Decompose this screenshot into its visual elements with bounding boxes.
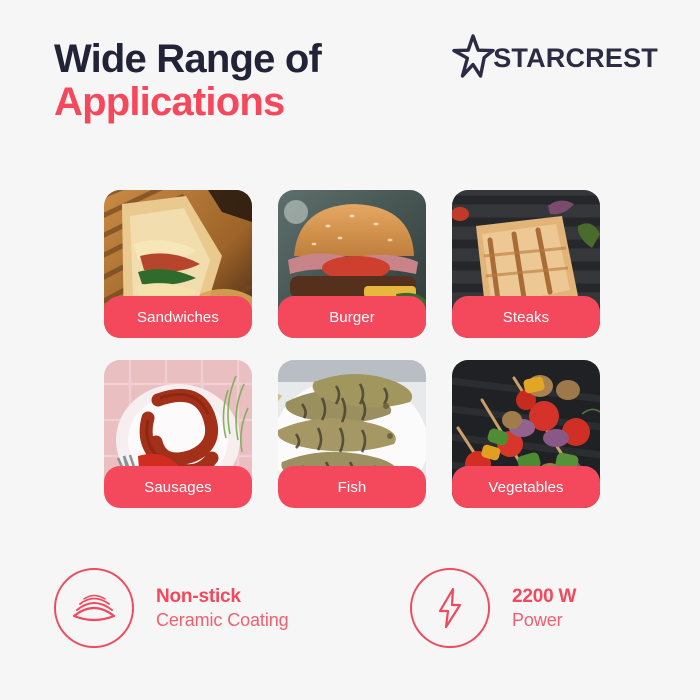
application-card-steaks[interactable]: Steaks xyxy=(452,190,600,338)
application-card-burger[interactable]: Burger xyxy=(278,190,426,338)
card-label: Fish xyxy=(278,466,426,508)
feature-subtitle: Ceramic Coating xyxy=(156,609,289,632)
card-label: Vegetables xyxy=(452,466,600,508)
feature-subtitle: Power xyxy=(512,609,576,632)
brand-name: STARCREST xyxy=(493,41,658,72)
star-outline-icon xyxy=(450,33,496,79)
headline-line-1: Wide Range of xyxy=(54,38,321,81)
card-label-text: Sandwiches xyxy=(137,309,219,326)
application-card-sandwiches[interactable]: Sandwiches xyxy=(104,190,252,338)
feature-text: 2200 W Power xyxy=(512,585,576,631)
feature-power: 2200 W Power xyxy=(410,560,576,656)
card-label: Burger xyxy=(278,296,426,338)
feature-title: Non-stick xyxy=(156,585,289,609)
header: Wide Range of Applications STARCREST xyxy=(0,0,700,170)
card-label-text: Fish xyxy=(338,479,367,496)
feature-title: 2200 W xyxy=(512,585,576,609)
lightning-bolt-icon xyxy=(433,586,467,630)
applications-grid: Sandwiches xyxy=(104,190,600,508)
features-row: Non-stick Ceramic Coating 2200 W Power xyxy=(0,560,700,660)
card-label-text: Steaks xyxy=(503,309,549,326)
card-label: Sandwiches xyxy=(104,296,252,338)
application-card-vegetables[interactable]: Vegetables xyxy=(452,360,600,508)
card-label-text: Sausages xyxy=(144,479,212,496)
feature-text: Non-stick Ceramic Coating xyxy=(156,585,289,631)
feature-non-stick: Non-stick Ceramic Coating xyxy=(54,560,289,656)
headline-line-2: Applications xyxy=(54,81,321,124)
brand-logo: STARCREST xyxy=(450,32,658,80)
card-label-text: Vegetables xyxy=(488,479,563,496)
feature-icon-circle xyxy=(54,568,134,648)
card-label: Sausages xyxy=(104,466,252,508)
application-card-fish[interactable]: Fish xyxy=(278,360,426,508)
feature-icon-circle xyxy=(410,568,490,648)
application-card-sausages[interactable]: Sausages xyxy=(104,360,252,508)
layered-waves-icon xyxy=(70,588,118,628)
card-label: Steaks xyxy=(452,296,600,338)
page-title: Wide Range of Applications xyxy=(54,38,321,124)
card-label-text: Burger xyxy=(329,309,375,326)
